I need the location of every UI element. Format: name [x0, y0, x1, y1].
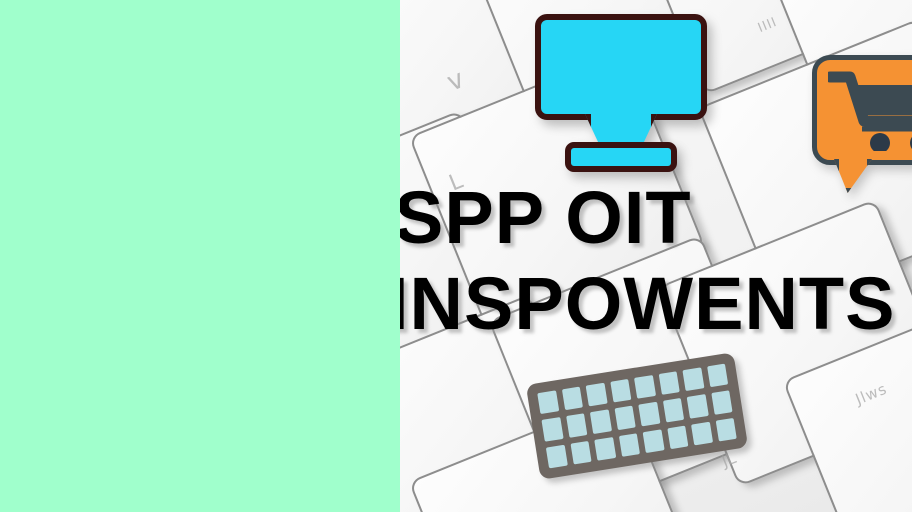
keyboard-key — [711, 391, 733, 415]
info-panel — [0, 0, 400, 512]
keyboard-key — [638, 402, 660, 426]
keyboard-key — [561, 387, 583, 411]
poster-canvas: v L IIII p JL Jlws — [0, 0, 912, 512]
shopping-cart-speech-bubble-icon — [812, 55, 912, 191]
keyboard-key — [707, 364, 729, 388]
keyboard-key — [542, 417, 564, 441]
keyboard-key — [570, 441, 592, 465]
keyboard-key — [667, 425, 689, 449]
keyboard-key — [658, 371, 680, 395]
keyboard-key — [590, 410, 612, 434]
photo-headline-line-2: INSPOWENTS — [400, 262, 900, 346]
keyboard-key — [618, 433, 640, 457]
monitor-icon — [535, 14, 707, 174]
keyboard-key — [610, 379, 632, 403]
keyboard-key — [687, 394, 709, 418]
monitor-base — [565, 142, 677, 172]
monitor-screen — [535, 14, 707, 120]
photo-panel: v L IIII p JL Jlws — [400, 0, 912, 512]
keyboard-key — [614, 406, 636, 430]
keyboard-key — [566, 414, 588, 438]
keyboard-key — [537, 390, 559, 414]
photo-headline-line-1: SPP OIT — [400, 176, 906, 260]
keyboard-key — [586, 383, 608, 407]
keyboard-key — [594, 437, 616, 461]
keyboard-key — [634, 375, 656, 399]
keyboard-key — [691, 421, 713, 445]
keyboard-key — [546, 444, 568, 468]
keyboard-key — [662, 398, 684, 422]
cart-icon — [828, 71, 912, 151]
keyboard-key — [643, 429, 665, 453]
keyboard-key — [715, 418, 737, 442]
keyboard-key — [682, 367, 704, 391]
keyboard-key-grid — [537, 364, 737, 469]
